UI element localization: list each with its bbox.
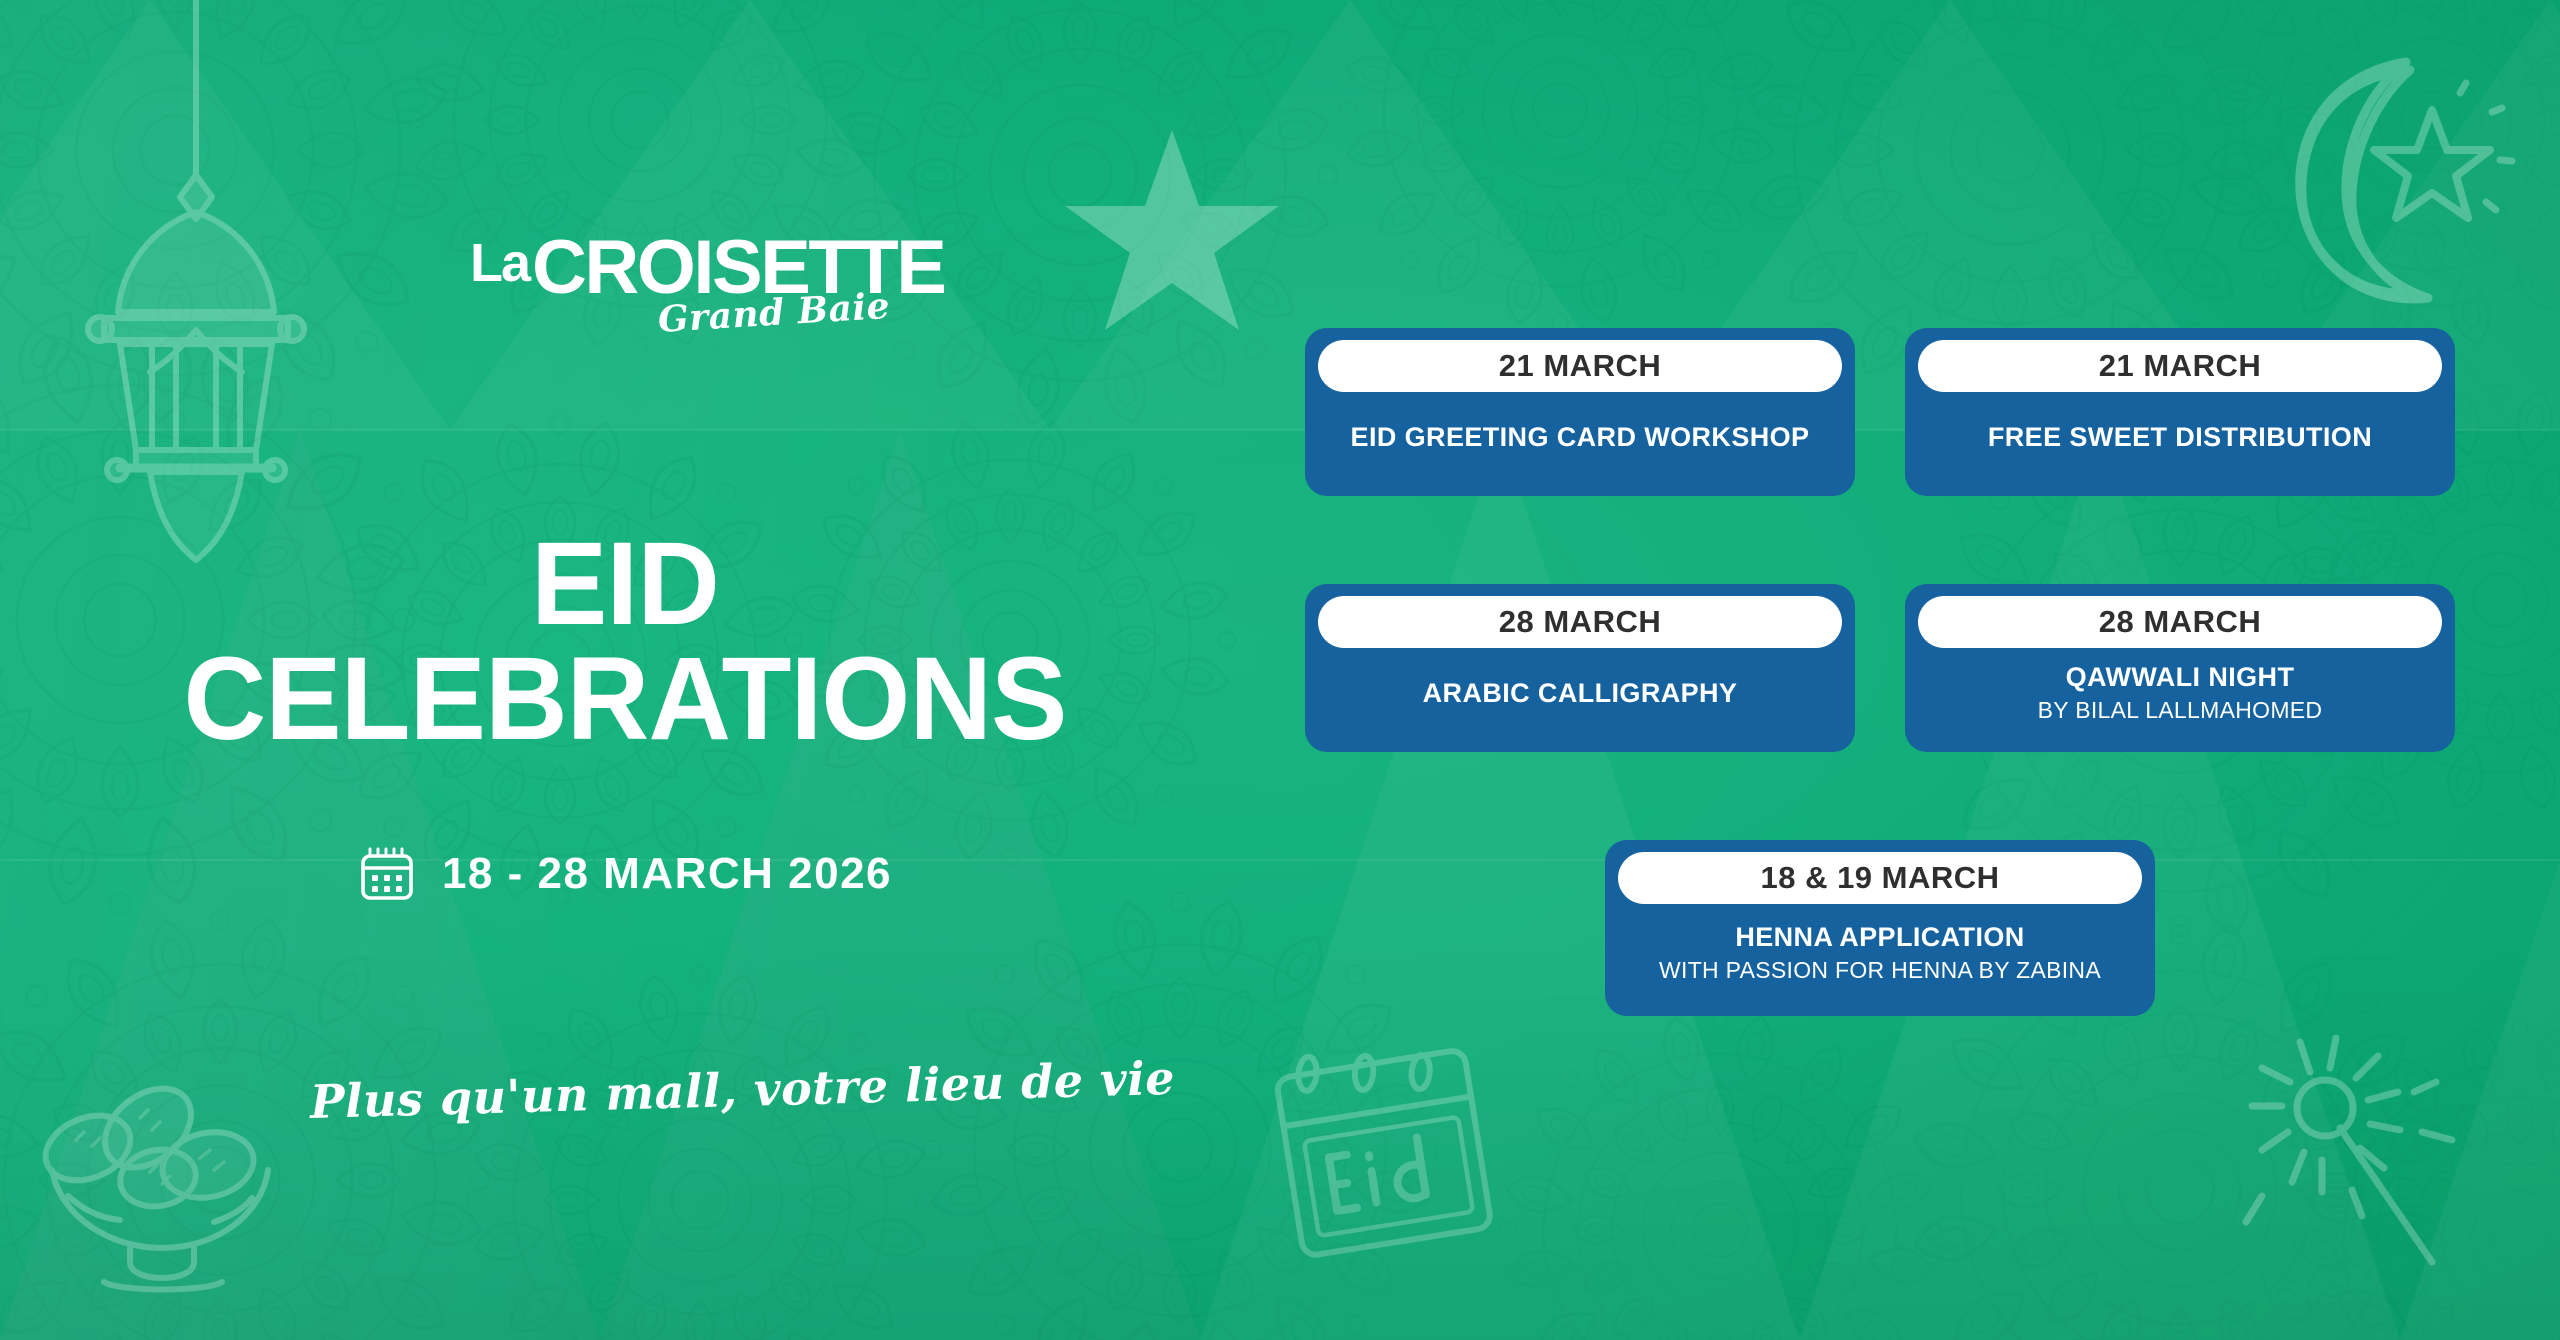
event-card[interactable]: 28 MARCH QAWWALI NIGHT BY BILAL LALLMAHO… bbox=[1905, 584, 2455, 752]
event-card-body: HENNA APPLICATION WITH PASSION FOR HENNA… bbox=[1618, 904, 2142, 1000]
event-card-body: ARABIC CALLIGRAPHY bbox=[1318, 648, 1842, 736]
event-subtitle: BY BILAL LALLMAHOMED bbox=[2038, 697, 2323, 725]
event-date-badge: 21 MARCH bbox=[1318, 340, 1842, 392]
event-title: FREE SWEET DISTRIBUTION bbox=[1988, 421, 2372, 454]
event-cards-group: 21 MARCH EID GREETING CARD WORKSHOP 21 M… bbox=[0, 0, 2560, 1340]
event-subtitle: WITH PASSION FOR HENNA BY ZABINA bbox=[1659, 957, 2101, 985]
event-card[interactable]: 21 MARCH EID GREETING CARD WORKSHOP bbox=[1305, 328, 1855, 496]
event-card[interactable]: 21 MARCH FREE SWEET DISTRIBUTION bbox=[1905, 328, 2455, 496]
event-date-badge: 18 & 19 MARCH bbox=[1618, 852, 2142, 904]
event-card[interactable]: 28 MARCH ARABIC CALLIGRAPHY bbox=[1305, 584, 1855, 752]
event-title: QAWWALI NIGHT bbox=[2066, 661, 2295, 694]
event-date-badge: 28 MARCH bbox=[1918, 596, 2442, 648]
event-date-badge: 21 MARCH bbox=[1918, 340, 2442, 392]
event-card-body: EID GREETING CARD WORKSHOP bbox=[1318, 392, 1842, 480]
event-title: HENNA APPLICATION bbox=[1735, 921, 2024, 954]
event-title: ARABIC CALLIGRAPHY bbox=[1423, 677, 1738, 710]
eid-celebrations-banner: La CROISETTE Grand Baie EID CELEBRATIONS bbox=[0, 0, 2560, 1340]
event-title: EID GREETING CARD WORKSHOP bbox=[1351, 421, 1810, 454]
event-date-badge: 28 MARCH bbox=[1318, 596, 1842, 648]
event-card-body: QAWWALI NIGHT BY BILAL LALLMAHOMED bbox=[1918, 648, 2442, 736]
event-card[interactable]: 18 & 19 MARCH HENNA APPLICATION WITH PAS… bbox=[1605, 840, 2155, 1016]
event-card-body: FREE SWEET DISTRIBUTION bbox=[1918, 392, 2442, 480]
